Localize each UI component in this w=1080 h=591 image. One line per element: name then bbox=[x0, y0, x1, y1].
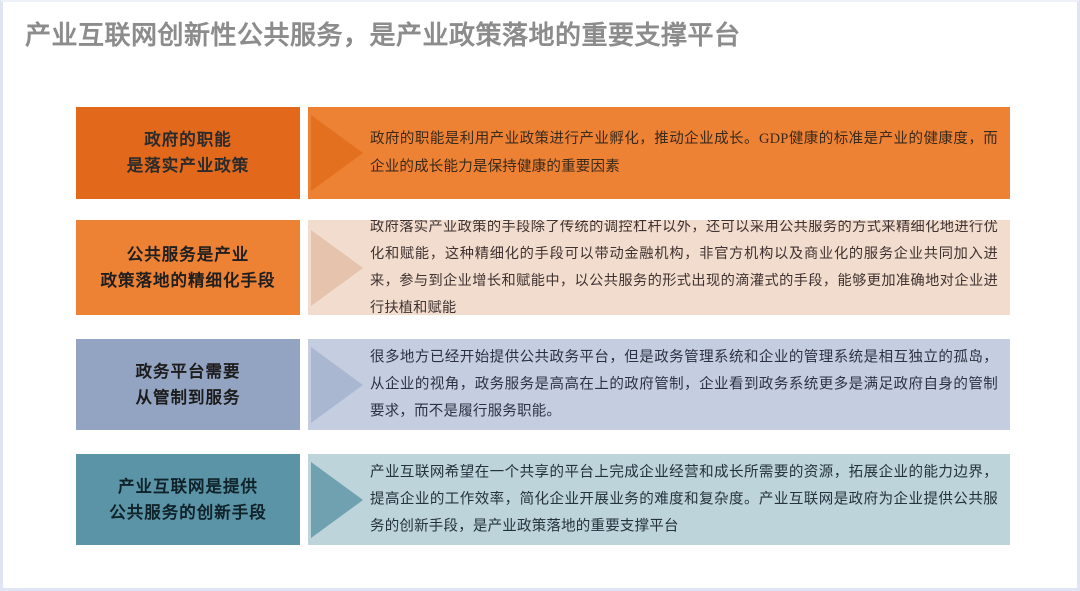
row-label-box[interactable]: 政务平台需要 从管制到服务 bbox=[76, 339, 300, 430]
row-body-text: 政府的职能是利用产业政策进行产业孵化，推动企业成长。GDP健康的标准是产业的健康… bbox=[370, 125, 998, 181]
content-row: 政务平台需要 从管制到服务 很多地方已经开始提供公共政务平台，但是政务管理系统和… bbox=[76, 339, 1010, 430]
row-body-text: 政府落实产业政策的手段除了传统的调控杠杆以外，还可以采用公共服务的方式来精细化地… bbox=[370, 220, 998, 315]
arrow-right-icon bbox=[311, 230, 363, 306]
content-row: 政府的职能 是落实产业政策 政府的职能是利用产业政策进行产业孵化，推动企业成长。… bbox=[76, 107, 1010, 199]
arrow-right-icon bbox=[311, 462, 363, 538]
page-title: 产业互联网创新性公共服务，是产业政策落地的重要支撑平台 bbox=[25, 18, 1025, 52]
row-label-box[interactable]: 产业互联网是提供 公共服务的创新手段 bbox=[76, 454, 300, 545]
row-body-text: 很多地方已经开始提供公共政务平台，但是政务管理系统和企业的管理系统是相互独立的孤… bbox=[370, 344, 998, 425]
row-body-box[interactable]: 产业互联网希望在一个共享的平台上完成企业经营和成长所需要的资源，拓展企业的能力边… bbox=[308, 454, 1010, 545]
arrow-right-icon bbox=[311, 347, 363, 423]
slide-canvas: 产业互联网创新性公共服务，是产业政策落地的重要支撑平台 政府的职能 是落实产业政… bbox=[0, 0, 1080, 591]
content-row: 产业互联网是提供 公共服务的创新手段 产业互联网希望在一个共享的平台上完成企业经… bbox=[76, 454, 1010, 545]
content-row: 公共服务是产业 政策落地的精细化手段 政府落实产业政策的手段除了传统的调控杠杆以… bbox=[76, 220, 1010, 315]
row-label-text: 政务平台需要 从管制到服务 bbox=[136, 359, 241, 411]
row-label-box[interactable]: 政府的职能 是落实产业政策 bbox=[76, 107, 300, 199]
row-label-text: 产业互联网是提供 公共服务的创新手段 bbox=[109, 474, 267, 526]
arrow-right-icon bbox=[311, 115, 363, 191]
row-body-box[interactable]: 政府的职能是利用产业政策进行产业孵化，推动企业成长。GDP健康的标准是产业的健康… bbox=[308, 107, 1010, 199]
row-body-text: 产业互联网希望在一个共享的平台上完成企业经营和成长所需要的资源，拓展企业的能力边… bbox=[370, 459, 998, 540]
row-label-text: 公共服务是产业 政策落地的精细化手段 bbox=[101, 242, 276, 294]
row-body-box[interactable]: 很多地方已经开始提供公共政务平台，但是政务管理系统和企业的管理系统是相互独立的孤… bbox=[308, 339, 1010, 430]
row-body-box[interactable]: 政府落实产业政策的手段除了传统的调控杠杆以外，还可以采用公共服务的方式来精细化地… bbox=[308, 220, 1010, 315]
row-label-text: 政府的职能 是落实产业政策 bbox=[127, 127, 250, 179]
row-label-box[interactable]: 公共服务是产业 政策落地的精细化手段 bbox=[76, 220, 300, 315]
